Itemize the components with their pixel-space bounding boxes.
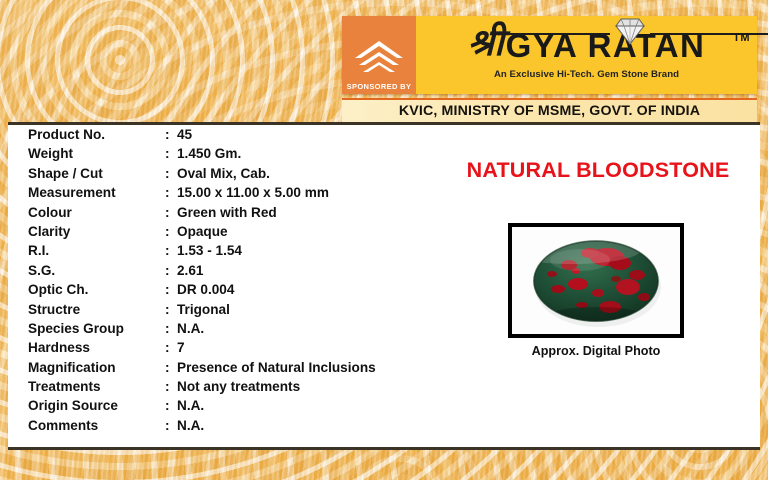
spec-value: 2.61	[177, 263, 203, 278]
spec-label: Shape / Cut	[28, 166, 165, 181]
spec-label: Weight	[28, 146, 165, 161]
spec-colon: :	[165, 302, 177, 317]
brand-block: श्री GYA RATAN TM An Exclusive Hi-Tech. …	[416, 16, 757, 94]
brand-script-glyph: श्री	[468, 25, 504, 62]
spec-value: Oval Mix, Cab.	[177, 166, 270, 181]
spec-row: Origin Source:N.A.	[28, 398, 448, 417]
spec-label: S.G.	[28, 263, 165, 278]
gem-spec-table: Product No.:45Weight:1.450 Gm.Shape / Cu…	[28, 127, 448, 437]
spec-value: DR 0.004	[177, 282, 234, 297]
spec-value: 45	[177, 127, 192, 142]
bloodstone-oval-cabochon-photo	[512, 227, 680, 334]
kvic-chevron-logo-icon	[351, 38, 407, 80]
spec-value: 1.450 Gm.	[177, 146, 241, 161]
brand-header-banner: SPONSORED BY श्री GYA RATAN TM An Exclus…	[342, 16, 757, 94]
spec-label: Colour	[28, 205, 165, 220]
spec-label: Origin Source	[28, 398, 165, 413]
spec-value: Trigonal	[177, 302, 230, 317]
spec-value: Opaque	[177, 224, 228, 239]
spec-colon: :	[165, 282, 177, 297]
spec-row: Species Group:N.A.	[28, 321, 448, 340]
spec-label: Treatments	[28, 379, 165, 394]
spec-colon: :	[165, 166, 177, 181]
spec-value: N.A.	[177, 418, 204, 433]
spec-colon: :	[165, 418, 177, 433]
spec-colon: :	[165, 127, 177, 142]
spec-row: Shape / Cut:Oval Mix, Cab.	[28, 166, 448, 185]
spec-label: Comments	[28, 418, 165, 433]
photo-caption: Approx. Digital Photo	[484, 344, 708, 358]
spec-label: Magnification	[28, 360, 165, 375]
spec-row: Optic Ch.:DR 0.004	[28, 282, 448, 301]
spec-colon: :	[165, 224, 177, 239]
spec-label: Clarity	[28, 224, 165, 239]
spec-value: Not any treatments	[177, 379, 300, 394]
trademark-mark: TM	[733, 32, 750, 44]
spec-colon: :	[165, 360, 177, 375]
gem-photo-frame	[508, 223, 684, 338]
spec-value: 15.00 x 11.00 x 5.00 mm	[177, 185, 329, 200]
spec-colon: :	[165, 185, 177, 200]
spec-row: Weight:1.450 Gm.	[28, 146, 448, 165]
spec-row: Magnification:Presence of Natural Inclus…	[28, 360, 448, 379]
sponsor-block: SPONSORED BY	[342, 16, 416, 94]
diamond-icon	[612, 17, 648, 45]
spec-row: Colour:Green with Red	[28, 205, 448, 224]
spec-row: Comments:N.A.	[28, 418, 448, 437]
spec-row: R.I.:1.53 - 1.54	[28, 243, 448, 262]
spec-value: 1.53 - 1.54	[177, 243, 242, 258]
spec-value: N.A.	[177, 398, 204, 413]
spec-colon: :	[165, 263, 177, 278]
spec-colon: :	[165, 379, 177, 394]
spec-value: 7	[177, 340, 185, 355]
spec-colon: :	[165, 146, 177, 161]
sponsored-by-label: SPONSORED BY	[347, 82, 412, 91]
brand-rule-left	[498, 33, 610, 35]
spec-colon: :	[165, 398, 177, 413]
gem-title: NATURAL BLOODSTONE	[444, 158, 752, 183]
brand-row: श्री GYA RATAN TM	[416, 16, 757, 72]
spec-row: Measurement:15.00 x 11.00 x 5.00 mm	[28, 185, 448, 204]
spec-value: N.A.	[177, 321, 204, 336]
spec-label: Product No.	[28, 127, 165, 142]
spec-row: S.G.:2.61	[28, 263, 448, 282]
ministry-strip: KVIC, MINISTRY OF MSME, GOVT. OF INDIA	[342, 98, 757, 122]
ministry-text: KVIC, MINISTRY OF MSME, GOVT. OF INDIA	[399, 103, 700, 119]
spec-label: Species Group	[28, 321, 165, 336]
spec-colon: :	[165, 340, 177, 355]
spec-colon: :	[165, 243, 177, 258]
spec-row: Product No.:45	[28, 127, 448, 146]
spec-label: Optic Ch.	[28, 282, 165, 297]
spec-label: Structre	[28, 302, 165, 317]
spec-row: Treatments:Not any treatments	[28, 379, 448, 398]
spec-colon: :	[165, 205, 177, 220]
spec-row: Hardness:7	[28, 340, 448, 359]
spec-label: Hardness	[28, 340, 165, 355]
spec-colon: :	[165, 321, 177, 336]
spec-value: Presence of Natural Inclusions	[177, 360, 376, 375]
certificate-panel: Product No.:45Weight:1.450 Gm.Shape / Cu…	[8, 122, 760, 450]
spec-value: Green with Red	[177, 205, 277, 220]
brand-rule-right	[650, 33, 768, 35]
spec-label: R.I.	[28, 243, 165, 258]
spec-row: Clarity:Opaque	[28, 224, 448, 243]
spec-row: Structre:Trigonal	[28, 302, 448, 321]
spec-label: Measurement	[28, 185, 165, 200]
